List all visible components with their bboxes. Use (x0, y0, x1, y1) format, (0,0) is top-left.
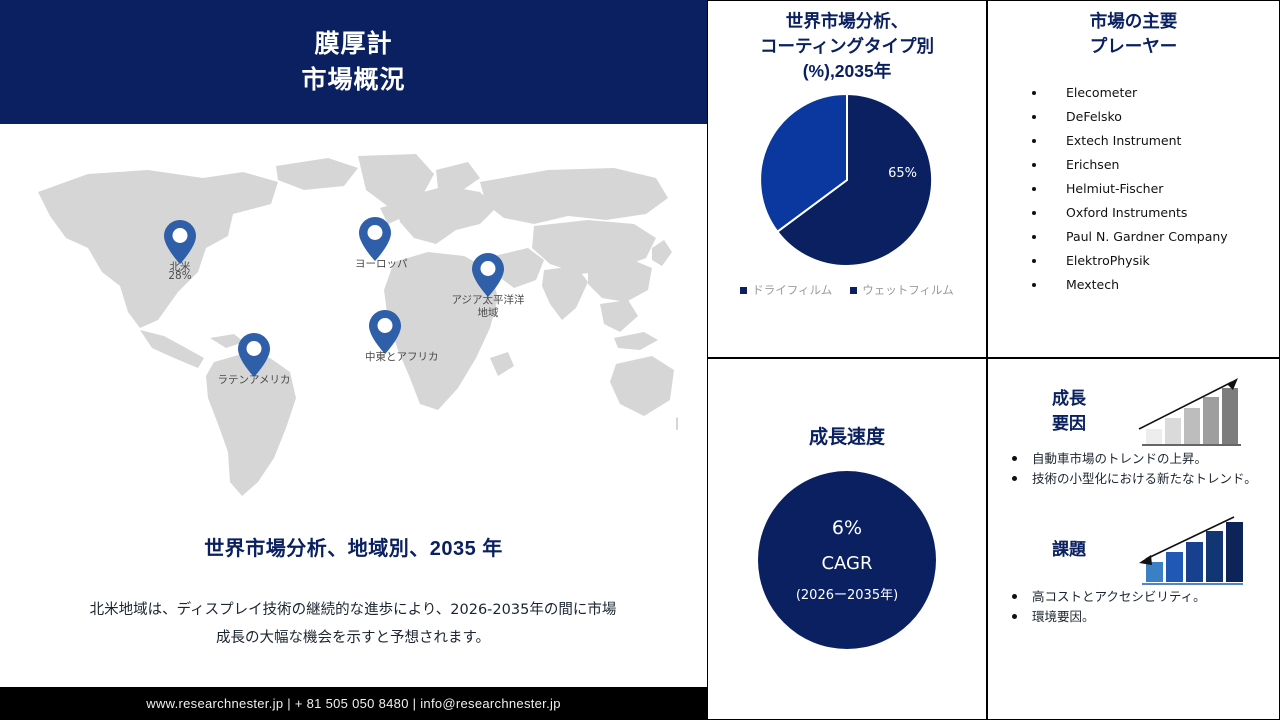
cagr-percent: 6% (832, 513, 862, 543)
world-map: 北米 28% ヨーロッパ アジア太平洋洋地域 (0, 124, 707, 544)
map-pin-label-latin-america: ラテンアメリカ (214, 374, 294, 387)
growth-rate-panel: 成長速度 6% CAGR (2026ー2035年) (707, 358, 987, 720)
list-item: Elecometer (1032, 81, 1279, 105)
map-pin-asia-pacific[interactable]: アジア太平洋洋地域 (468, 252, 508, 320)
footer-contact-text: www.researchnester.jp | + 81 505 050 848… (146, 696, 560, 711)
footer-bar: www.researchnester.jp | + 81 505 050 848… (0, 687, 707, 720)
challenges-block: 課題 高コストとアクセシビリティ。 環境要因。 (988, 489, 1279, 626)
list-item: 高コストとアクセシビリティ。 (1010, 587, 1269, 606)
map-pin-europe[interactable]: ヨーロッパ (355, 216, 395, 271)
map-pin-value-north-america: 28% (160, 270, 200, 283)
cagr-metric-label: CAGR (821, 543, 872, 585)
players-list: Elecometer DeFelsko Extech Instrument Er… (988, 81, 1279, 297)
map-pin-middle-east-africa[interactable]: 中東とアフリカ (365, 309, 405, 364)
legend-label-wet-film: ウェットフィルム (862, 282, 954, 298)
list-item: Oxford Instruments (1032, 201, 1279, 225)
pie-title-line3: (%),2035年 (708, 59, 986, 84)
growth-factors-block: 成長 要因 自動車市場のトレンドの上昇。 技術の小型化における新たなトレンド。 (988, 359, 1279, 488)
legend-swatch-icon (740, 287, 747, 294)
list-item: Erichsen (1032, 153, 1279, 177)
players-panel-title: 市場の主要 プレーヤー (988, 1, 1279, 59)
challenges-bullets: 高コストとアクセシビリティ。 環境要因。 (988, 587, 1279, 626)
header-banner: 膜厚計 市場概況 (0, 0, 707, 124)
list-item: 技術の小型化における新たなトレンド。 (1010, 469, 1269, 488)
growth-factors-title: 成長 要因 (1004, 386, 1134, 436)
list-item: ElektroPhysik (1032, 249, 1279, 273)
map-pin-icon (358, 216, 392, 262)
pie-title-line2: コーティングタイプ別 (708, 34, 986, 59)
list-item: Paul N. Gardner Company (1032, 225, 1279, 249)
challenges-head: 課題 (988, 511, 1279, 587)
header-title-line2: 市場概況 (301, 62, 405, 98)
ascending-bar-chart-blue-icon (1134, 511, 1244, 587)
header-title-line1: 膜厚計 (314, 26, 392, 62)
growth-panel-title: 成長速度 (708, 359, 986, 449)
growth-factors-title-line1: 成長 (1004, 386, 1134, 411)
map-caption: 世界市場分析、地域別、2035 年 (0, 532, 707, 561)
list-item: 自動車市場のトレンドの上昇。 (1010, 449, 1269, 468)
regional-analysis-panel: 膜厚計 市場概況 (0, 0, 707, 720)
growth-factors-challenges-panel: 成長 要因 自動車市場のトレンドの上昇。 技術の小型化における新たなトレンド。 (987, 358, 1280, 720)
map-pin-label-europe: ヨーロッパ (355, 258, 395, 271)
pie-title-line1: 世界市場分析、 (708, 9, 986, 34)
list-item: Helmiut-Fischer (1032, 177, 1279, 201)
legend-item-dry-film[interactable]: ドライフィルム (740, 282, 832, 298)
challenges-title: 課題 (1004, 537, 1134, 562)
list-item: DeFelsko (1032, 105, 1279, 129)
growth-factors-title-line2: 要因 (1004, 411, 1134, 436)
map-pin-label-asia-pacific: アジア太平洋洋地域 (448, 294, 528, 320)
players-title-line1: 市場の主要 (988, 9, 1279, 34)
legend-swatch-icon (850, 287, 857, 294)
map-pin-label-middle-east-africa: 中東とアフリカ (365, 351, 405, 364)
key-players-panel: 市場の主要 プレーヤー Elecometer DeFelsko Extech I… (987, 0, 1280, 358)
map-pin-latin-america[interactable]: ラテンアメリカ (234, 332, 274, 387)
legend-item-wet-film[interactable]: ウェットフィルム (850, 282, 954, 298)
list-item: Mextech (1032, 273, 1279, 297)
map-pin-icon (471, 252, 505, 298)
players-title-line2: プレーヤー (988, 34, 1279, 59)
list-item: Extech Instrument (1032, 129, 1279, 153)
pie-legend: ドライフィルム ウェットフィルム (708, 282, 986, 298)
coating-type-pie-panel: 世界市場分析、 コーティングタイプ別 (%),2035年 65% ドライフィルム… (707, 0, 987, 358)
pie-slice-label-65: 65% (888, 166, 917, 181)
growth-factors-bullets: 自動車市場のトレンドの上昇。 技術の小型化における新たなトレンド。 (988, 449, 1279, 488)
legend-label-dry-film: ドライフィルム (752, 282, 832, 298)
map-pin-icon (163, 219, 197, 265)
ascending-bar-chart-gray-icon (1134, 373, 1244, 449)
map-description: 北米地域は、ディスプレイ技術の継続的な進歩により、2026-2035年の間に市場… (88, 596, 618, 652)
world-map-svg (28, 152, 678, 502)
growth-factors-head: 成長 要因 (988, 373, 1279, 449)
cagr-circle: 6% CAGR (2026ー2035年) (758, 471, 936, 649)
list-item: 環境要因。 (1010, 607, 1269, 626)
pie-chart: 65% (759, 92, 935, 268)
map-pin-north-america[interactable]: 北米 28% (160, 219, 200, 283)
pie-panel-title: 世界市場分析、 コーティングタイプ別 (%),2035年 (708, 1, 986, 84)
cagr-period: (2026ー2035年) (796, 585, 898, 607)
map-pin-icon (237, 332, 271, 378)
infographic-page: 膜厚計 市場概況 (0, 0, 1280, 720)
map-pin-icon (368, 309, 402, 355)
